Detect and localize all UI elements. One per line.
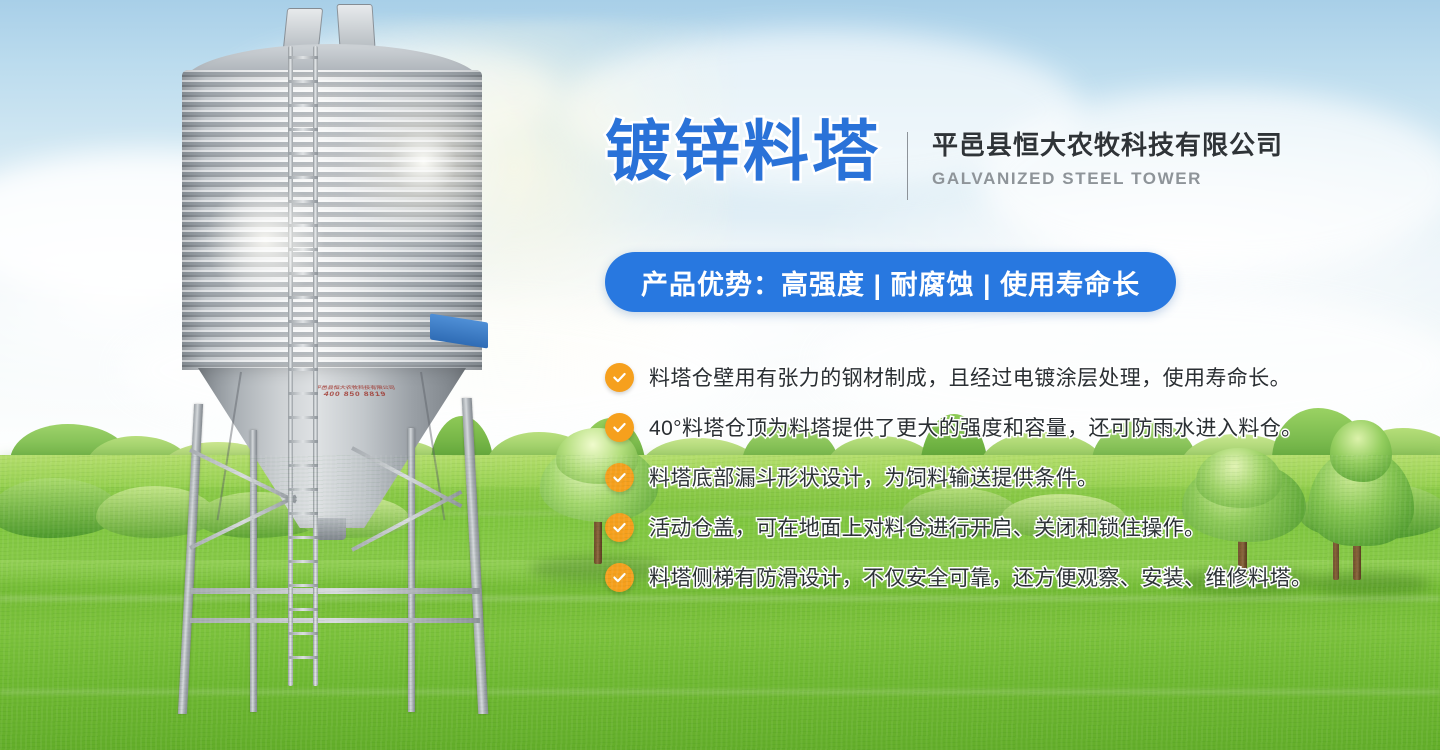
hopper-phone-text: 400 850 8819 [323,391,387,398]
check-circle-icon [605,363,634,392]
feature-text: 活动仓盖，可在地面上对料仓进行开启、关闭和锁住操作。 [649,512,1205,542]
silo-lid [336,4,375,48]
check-circle-icon [605,413,634,442]
advantage-banner: 产品优势：高强度 | 耐腐蚀 | 使用寿命长 [605,252,1176,312]
title-divider [907,132,908,200]
hero-copy: 镀锌料塔 平邑县恒大农牧科技有限公司 GALVANIZED STEEL TOWE… [600,0,1440,750]
feature-text: 40°料塔仓顶为料塔提供了更大的强度和容量，还可防雨水进入料仓。 [649,412,1303,442]
list-item: 料塔侧梯有防滑设计，不仅安全可靠，还方便观察、安装、维修料塔。 [605,552,1440,602]
list-item: 料塔仓壁用有张力的钢材制成，且经过电镀涂层处理，使用寿命长。 [605,352,1440,402]
silo-side-ladder [288,46,318,686]
silo-outlet [316,518,346,540]
check-circle-icon [605,563,634,592]
product-photo-silo: 平邑县恒大农牧科技有限公司 400 850 8819 [90,0,510,750]
page-title: 镀锌料塔 [605,118,881,184]
hero-banner: 平邑县恒大农牧科技有限公司 400 850 8819 [0,0,1440,750]
list-item: 活动仓盖，可在地面上对料仓进行开启、关闭和锁住操作。 [605,502,1440,552]
silo-leg [462,398,489,714]
company-name: 平邑县恒大农牧科技有限公司 [932,130,1283,161]
company-block: 平邑县恒大农牧科技有限公司 GALVANIZED STEEL TOWER [932,118,1283,189]
title-row: 镀锌料塔 平邑县恒大农牧科技有限公司 GALVANIZED STEEL TOWE… [605,118,1283,200]
silo-leg [408,428,415,712]
feature-text: 料塔仓壁用有张力的钢材制成，且经过电镀涂层处理，使用寿命长。 [649,362,1291,392]
silo-leg [250,430,257,712]
list-item: 料塔底部漏斗形状设计，为饲料输送提供条件。 [605,452,1440,502]
list-item: 40°料塔仓顶为料塔提供了更大的强度和容量，还可防雨水进入料仓。 [605,402,1440,452]
feature-list: 料塔仓壁用有张力的钢材制成，且经过电镀涂层处理，使用寿命长。 40°料塔仓顶为料… [605,352,1440,602]
feature-text: 料塔侧梯有防滑设计，不仅安全可靠，还方便观察、安装、维修料塔。 [649,562,1312,592]
company-name-en: GALVANIZED STEEL TOWER [932,169,1283,189]
check-circle-icon [605,463,634,492]
advantage-banner-text: 产品优势：高强度 | 耐腐蚀 | 使用寿命长 [641,263,1140,302]
feature-text: 料塔底部漏斗形状设计，为饲料输送提供条件。 [649,462,1098,492]
check-circle-icon [605,513,634,542]
